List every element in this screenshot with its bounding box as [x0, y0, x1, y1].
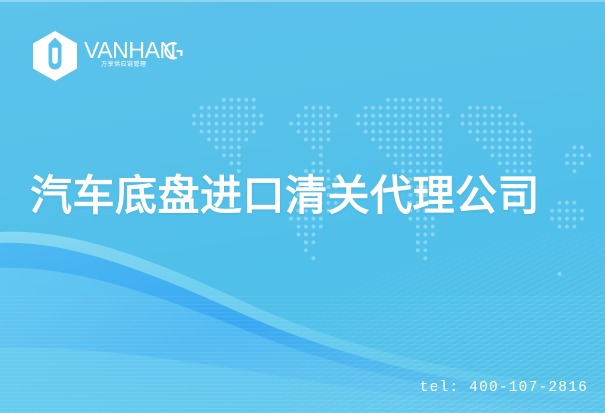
vanhang-hexagon-u-logo-icon — [32, 31, 78, 81]
svg-text:VANHAN: VANHAN — [84, 37, 176, 63]
vanhang-wordmark-icon: VANHAN 万享供应链管理 — [84, 35, 184, 77]
promo-banner: VANHAN 万享供应链管理 汽车底盘进口清关代理公司 tel: 400-107… — [0, 0, 605, 413]
contact-phone[interactable]: tel: 400-107-2816 — [420, 380, 588, 396]
company-logo[interactable]: VANHAN 万享供应链管理 — [32, 30, 184, 82]
logo-subtitle-cn: 万享供应链管理 — [101, 60, 146, 68]
top-hairline — [0, 0, 605, 2]
logo-wordmark-group: VANHAN 万享供应链管理 — [84, 35, 184, 77]
page-title: 汽车底盘进口清关代理公司 — [30, 168, 590, 224]
